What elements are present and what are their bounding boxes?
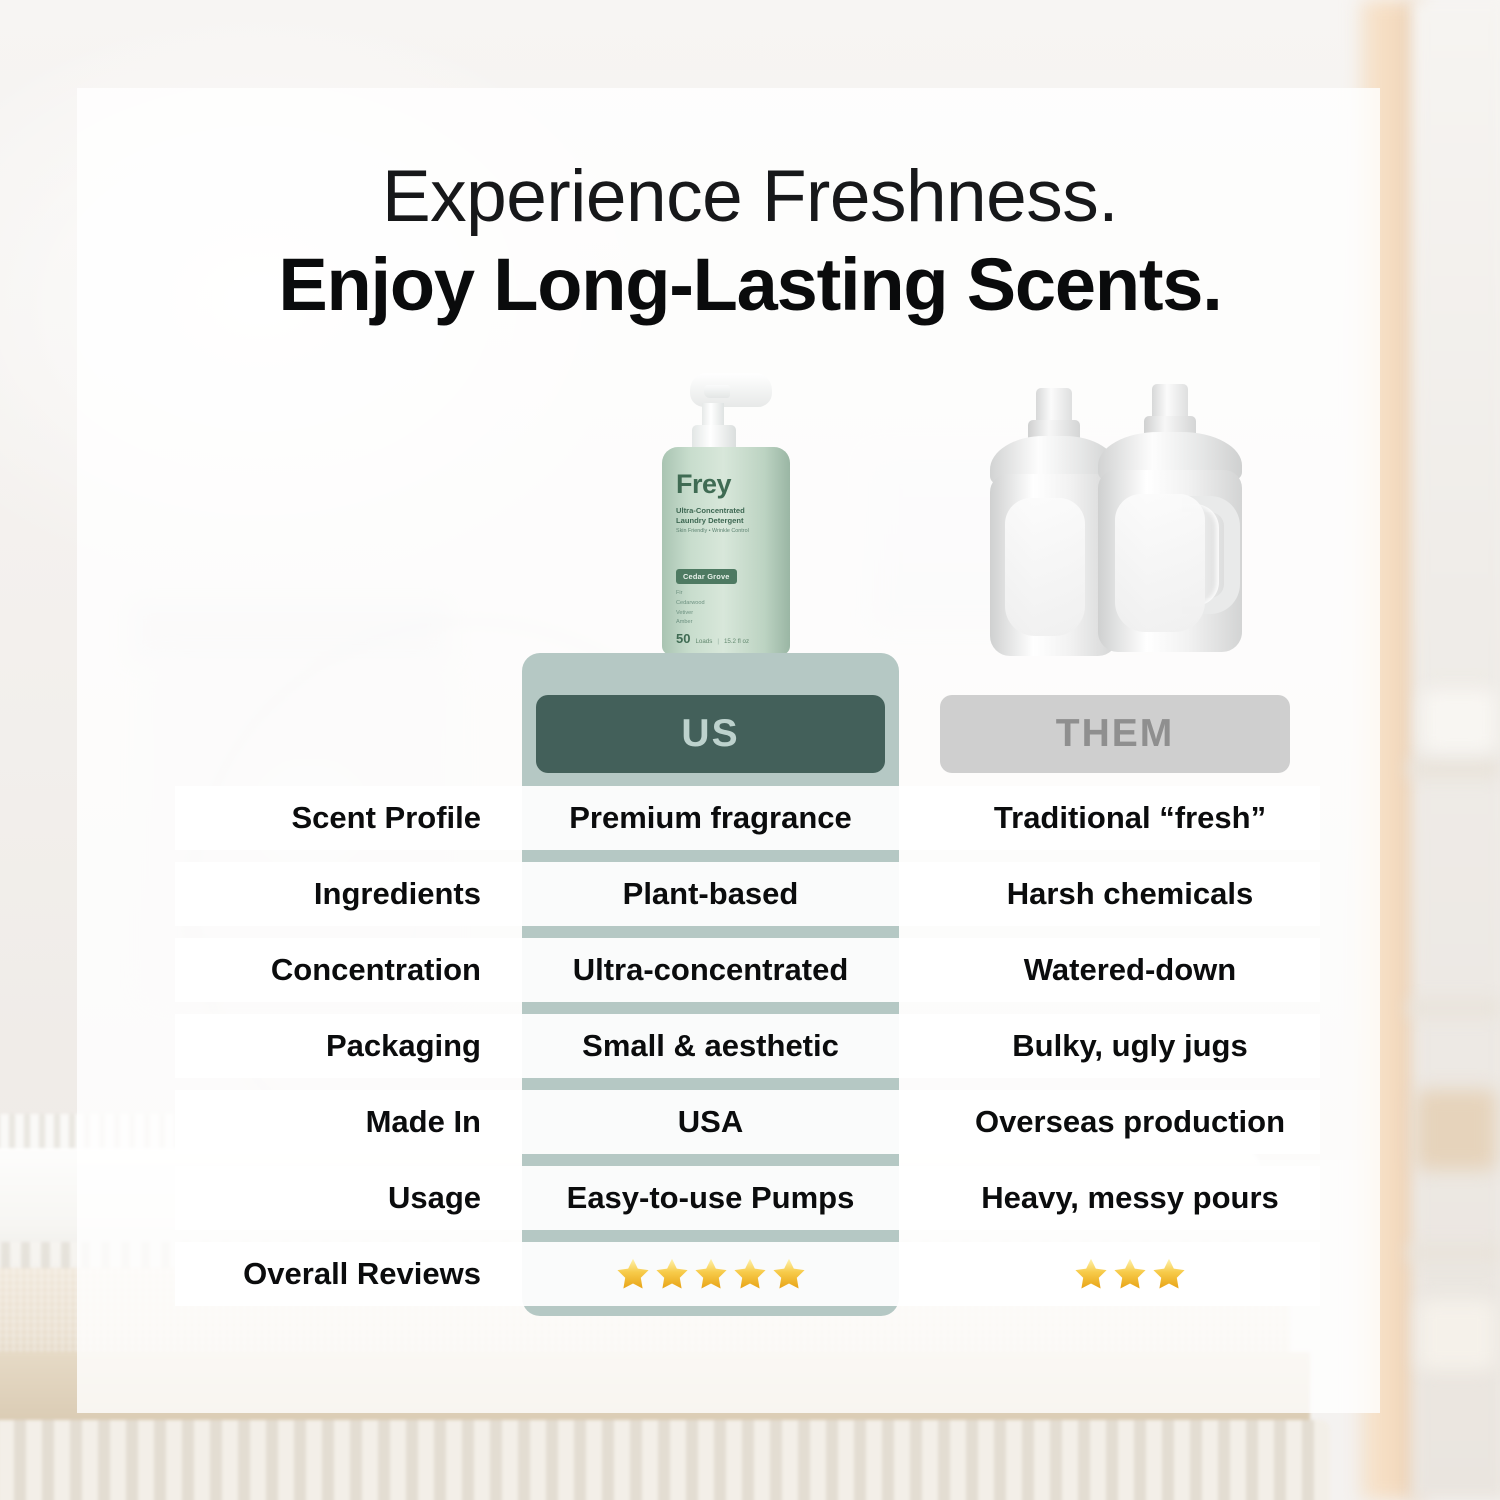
row-value-us: Easy-to-use Pumps bbox=[522, 1166, 899, 1230]
table-row: Ingredients Plant-based Harsh chemicals bbox=[0, 862, 1500, 938]
us-column-header: US bbox=[536, 695, 885, 773]
table-row: Packaging Small & aesthetic Bulky, ugly … bbox=[0, 1014, 1500, 1090]
star-icon bbox=[1073, 1256, 1109, 1292]
star-icon bbox=[1151, 1256, 1187, 1292]
star-icon bbox=[771, 1256, 807, 1292]
them-column-header: THEM bbox=[940, 695, 1290, 773]
row-value-us: USA bbox=[522, 1090, 899, 1154]
table-row: Usage Easy-to-use Pumps Heavy, messy pou… bbox=[0, 1166, 1500, 1242]
them-star-rating bbox=[1073, 1256, 1187, 1292]
row-label: Overall Reviews bbox=[175, 1242, 505, 1306]
row-label: Usage bbox=[175, 1166, 505, 1230]
row-value-them: Watered-down bbox=[930, 938, 1330, 1002]
row-value-them: Harsh chemicals bbox=[930, 862, 1330, 926]
row-value-them: Heavy, messy pours bbox=[930, 1166, 1330, 1230]
star-icon bbox=[1112, 1256, 1148, 1292]
star-icon bbox=[732, 1256, 768, 1292]
table-row: Overall Reviews bbox=[0, 1242, 1500, 1318]
table-row: Concentration Ultra-concentrated Watered… bbox=[0, 938, 1500, 1014]
row-label: Made In bbox=[175, 1090, 505, 1154]
row-value-us: Premium fragrance bbox=[522, 786, 899, 850]
table-row: Scent Profile Premium fragrance Traditio… bbox=[0, 786, 1500, 862]
row-label: Packaging bbox=[175, 1014, 505, 1078]
row-label: Ingredients bbox=[175, 862, 505, 926]
star-icon bbox=[654, 1256, 690, 1292]
row-value-them: Traditional “fresh” bbox=[930, 786, 1330, 850]
row-value-them: Overseas production bbox=[930, 1090, 1330, 1154]
star-icon bbox=[693, 1256, 729, 1292]
comparison-rows: Scent Profile Premium fragrance Traditio… bbox=[0, 786, 1500, 1318]
row-value-us: Small & aesthetic bbox=[522, 1014, 899, 1078]
row-label: Concentration bbox=[175, 938, 505, 1002]
row-value-us: Plant-based bbox=[522, 862, 899, 926]
comparison-table: US THEM Scent Profile Premium fragrance … bbox=[0, 0, 1500, 1500]
row-value-them: Bulky, ugly jugs bbox=[930, 1014, 1330, 1078]
us-star-rating bbox=[615, 1256, 807, 1292]
row-value-us: Ultra-concentrated bbox=[522, 938, 899, 1002]
row-label: Scent Profile bbox=[175, 786, 505, 850]
star-icon bbox=[615, 1256, 651, 1292]
table-row: Made In USA Overseas production bbox=[0, 1090, 1500, 1166]
